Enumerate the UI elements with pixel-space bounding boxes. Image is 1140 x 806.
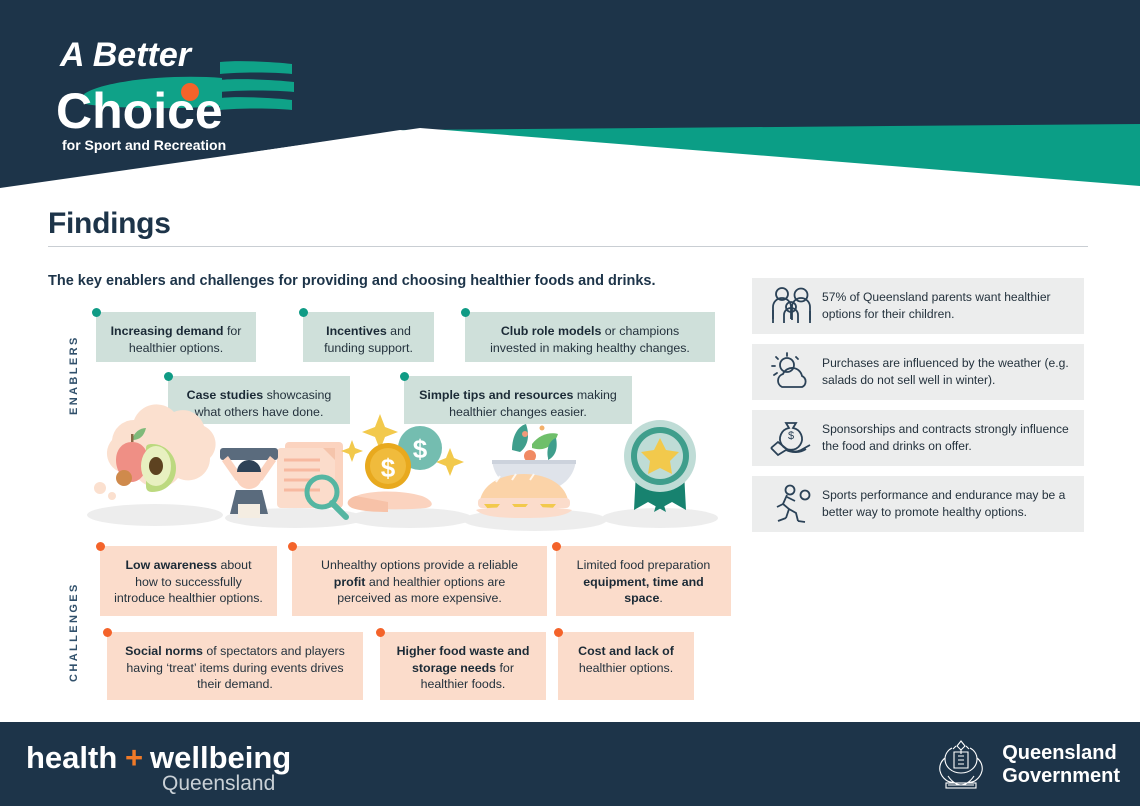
case-study-person-illustration bbox=[220, 442, 346, 518]
logo-line1: A Better bbox=[59, 36, 193, 74]
page-footer: health + wellbeing Queensland Queensland bbox=[0, 722, 1140, 806]
fact-row-2: $ Sponsorships and contracts strongly in… bbox=[752, 410, 1084, 466]
challenge-text-1: Unhealthy options provide a reliable pro… bbox=[321, 558, 518, 605]
page-header: A Better Choice for Sport and Recreation bbox=[0, 0, 1140, 200]
enabler-dot-3 bbox=[164, 372, 173, 381]
hw-wellbeing-text: wellbeing bbox=[149, 740, 291, 775]
enabler-text-2: Club role models or champions invested i… bbox=[490, 324, 690, 355]
challenge-text-4: Higher food waste and storage needs for … bbox=[397, 644, 530, 691]
page-title: Findings bbox=[48, 207, 171, 241]
hw-health-text: health bbox=[26, 740, 117, 775]
enabler-box-2: Club role models or champions invested i… bbox=[465, 312, 715, 362]
qld-gov-line2: Government bbox=[1002, 765, 1120, 788]
soccer-player-icon bbox=[760, 483, 822, 525]
hw-plus-icon: + bbox=[125, 740, 143, 775]
healthy-food-illustration bbox=[476, 424, 576, 518]
section-label-challenges: CHALLENGES bbox=[68, 582, 80, 682]
logo-tagline: for Sport and Recreation bbox=[62, 137, 226, 153]
fact-text-3: Sports performance and endurance may be … bbox=[822, 487, 1072, 520]
fact-row-1: Purchases are influenced by the weather … bbox=[752, 344, 1084, 400]
enabler-text-1: Incentives and funding support. bbox=[324, 324, 413, 355]
queensland-government-logo: Queensland Government bbox=[932, 736, 1120, 794]
hw-sub-text: Queensland bbox=[162, 772, 275, 795]
challenge-text-2: Limited food preparation equipment, time… bbox=[577, 558, 711, 605]
enabler-box-1: Incentives and funding support. bbox=[303, 312, 434, 362]
page-subtitle: The key enablers and challenges for prov… bbox=[48, 273, 656, 289]
svg-text:$: $ bbox=[788, 430, 794, 442]
challenge-dot-5 bbox=[554, 628, 563, 637]
challenge-dot-3 bbox=[103, 628, 112, 637]
svg-text:$: $ bbox=[381, 453, 396, 483]
fact-row-3: Sports performance and endurance may be … bbox=[752, 476, 1084, 532]
enabler-box-0: Increasing demand for healthier options. bbox=[96, 312, 256, 362]
challenge-box-3: Social norms of spectators and players h… bbox=[107, 632, 363, 700]
hand-money-bag-icon: $ bbox=[760, 417, 822, 459]
logo-line2: Choice bbox=[56, 83, 223, 139]
enabler-dot-4 bbox=[400, 372, 409, 381]
challenge-dot-0 bbox=[96, 542, 105, 551]
fact-text-0: 57% of Queensland parents want healthier… bbox=[822, 289, 1072, 322]
section-label-enablers: ENABLERS bbox=[68, 335, 80, 415]
enabler-text-0: Increasing demand for healthier options. bbox=[111, 324, 242, 355]
fact-text-1: Purchases are influenced by the weather … bbox=[822, 355, 1072, 388]
enabler-dot-1 bbox=[299, 308, 308, 317]
challenge-box-0: Low awareness about how to successfully … bbox=[100, 546, 277, 616]
award-medal-illustration bbox=[624, 420, 696, 512]
funding-coins-illustration: $ $ bbox=[341, 414, 464, 512]
challenge-dot-4 bbox=[376, 628, 385, 637]
challenge-text-0: Low awareness about how to successfully … bbox=[114, 558, 263, 605]
challenge-box-4: Higher food waste and storage needs for … bbox=[380, 632, 546, 700]
qld-gov-line1: Queensland bbox=[1002, 742, 1120, 765]
challenge-dot-1 bbox=[288, 542, 297, 551]
fact-row-0: 57% of Queensland parents want healthier… bbox=[752, 278, 1084, 334]
title-divider bbox=[48, 246, 1088, 247]
qld-gov-text: Queensland Government bbox=[1002, 742, 1120, 788]
fact-text-2: Sponsorships and contracts strongly infl… bbox=[822, 421, 1072, 454]
challenge-text-5: Cost and lack of healthier options. bbox=[578, 644, 674, 675]
challenge-box-2: Limited food preparation equipment, time… bbox=[556, 546, 731, 616]
svg-text:$: $ bbox=[413, 434, 428, 464]
fruit-thought-bubble-illustration bbox=[94, 404, 216, 500]
health-wellbeing-qld-logo: health + wellbeing Queensland bbox=[22, 734, 312, 801]
qld-coat-of-arms-icon bbox=[932, 736, 990, 794]
illustration-band: $ $ bbox=[80, 400, 740, 535]
challenge-box-5: Cost and lack of healthier options. bbox=[558, 632, 694, 700]
enabler-dot-0 bbox=[92, 308, 101, 317]
family-icon bbox=[760, 285, 822, 327]
challenge-box-1: Unhealthy options provide a reliable pro… bbox=[292, 546, 547, 616]
challenge-text-3: Social norms of spectators and players h… bbox=[125, 644, 345, 691]
a-better-choice-logo: A Better Choice for Sport and Recreation bbox=[44, 22, 314, 162]
challenge-dot-2 bbox=[552, 542, 561, 551]
enabler-dot-2 bbox=[461, 308, 470, 317]
weather-sun-cloud-icon bbox=[760, 351, 822, 393]
